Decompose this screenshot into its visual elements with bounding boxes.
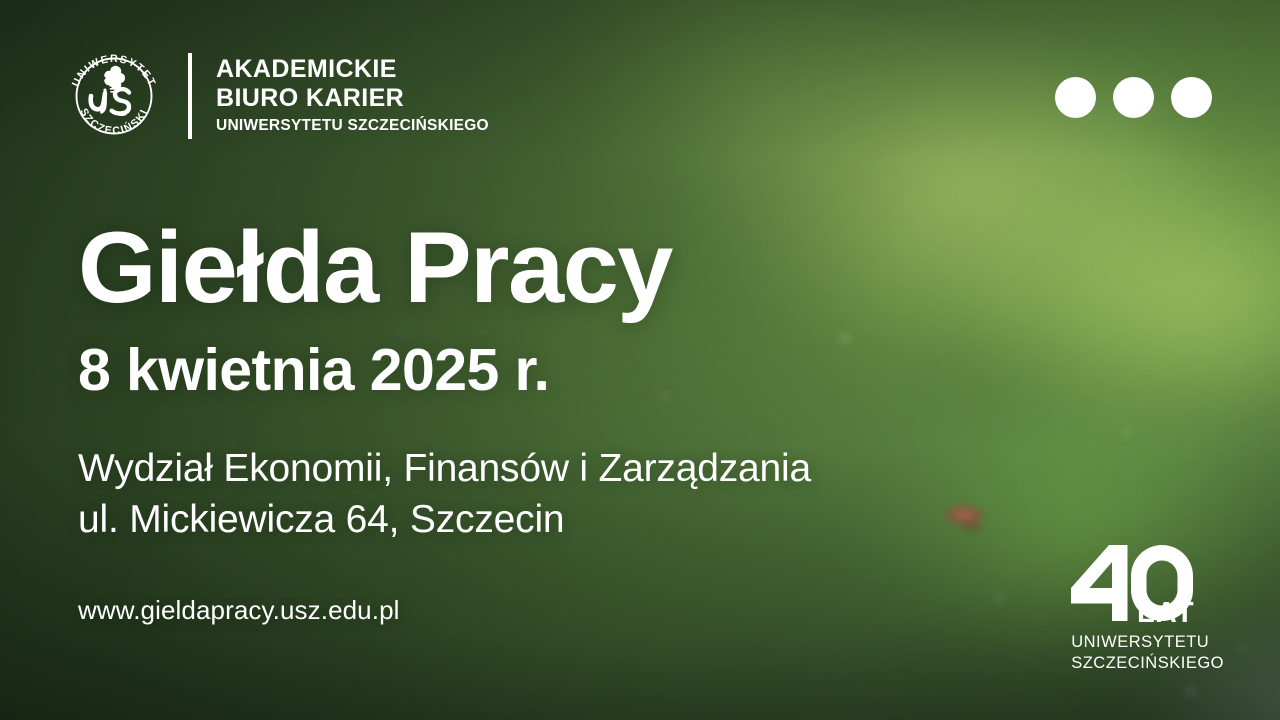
circle-dot-icon-3 [1171,77,1212,118]
event-title: Giełda Pracy [78,218,811,319]
event-promo-banner: UNIWERSYTET SZCZECIŃSKI [0,0,1280,720]
event-date: 8 kwietnia 2025 r. [78,341,811,400]
venue-faculty: Wydział Ekonomii, Finansów i Zarządzania [78,444,811,495]
decorative-dots-group [1055,77,1212,118]
header-logo-lockup: UNIWERSYTET SZCZECIŃSKI [62,44,489,148]
anniversary-unit-text: LAT [1137,597,1195,625]
org-name-line-3: UNIWERSYTETU SZCZECIŃSKIEGO [216,116,489,137]
venue-address: ul. Mickiewicza 64, Szczecin [78,495,811,546]
university-seal-icon: UNIWERSYTET SZCZECIŃSKI [62,44,166,148]
org-name-line-1: AKADEMICKIE [216,55,489,84]
event-website-url[interactable]: www.gieldapracy.usz.edu.pl [78,597,811,623]
org-name-line-2: BIURO KARIER [216,84,489,113]
anniversary-sub-line-2: SZCZECIŃSKIEGO [1071,653,1224,674]
event-copy-block: Giełda Pracy 8 kwietnia 2025 r. Wydział … [78,218,811,623]
circle-dot-icon-2 [1113,77,1154,118]
anniversary-sub-line-1: UNIWERSYTETU [1071,632,1224,653]
forty-years-logo-icon: LAT [1069,543,1217,625]
circle-dot-icon-1 [1055,77,1096,118]
banner-content: UNIWERSYTET SZCZECIŃSKI [0,0,1280,720]
organization-name-block: AKADEMICKIE BIURO KARIER UNIWERSYTETU SZ… [216,55,489,137]
anniversary-subtitle: UNIWERSYTETU SZCZECIŃSKIEGO [1071,632,1224,674]
lockup-divider [188,53,192,139]
event-venue-block: Wydział Ekonomii, Finansów i Zarządzania… [78,444,811,545]
anniversary-lockup: LAT UNIWERSYTETU SZCZECIŃSKIEGO [1069,543,1224,674]
